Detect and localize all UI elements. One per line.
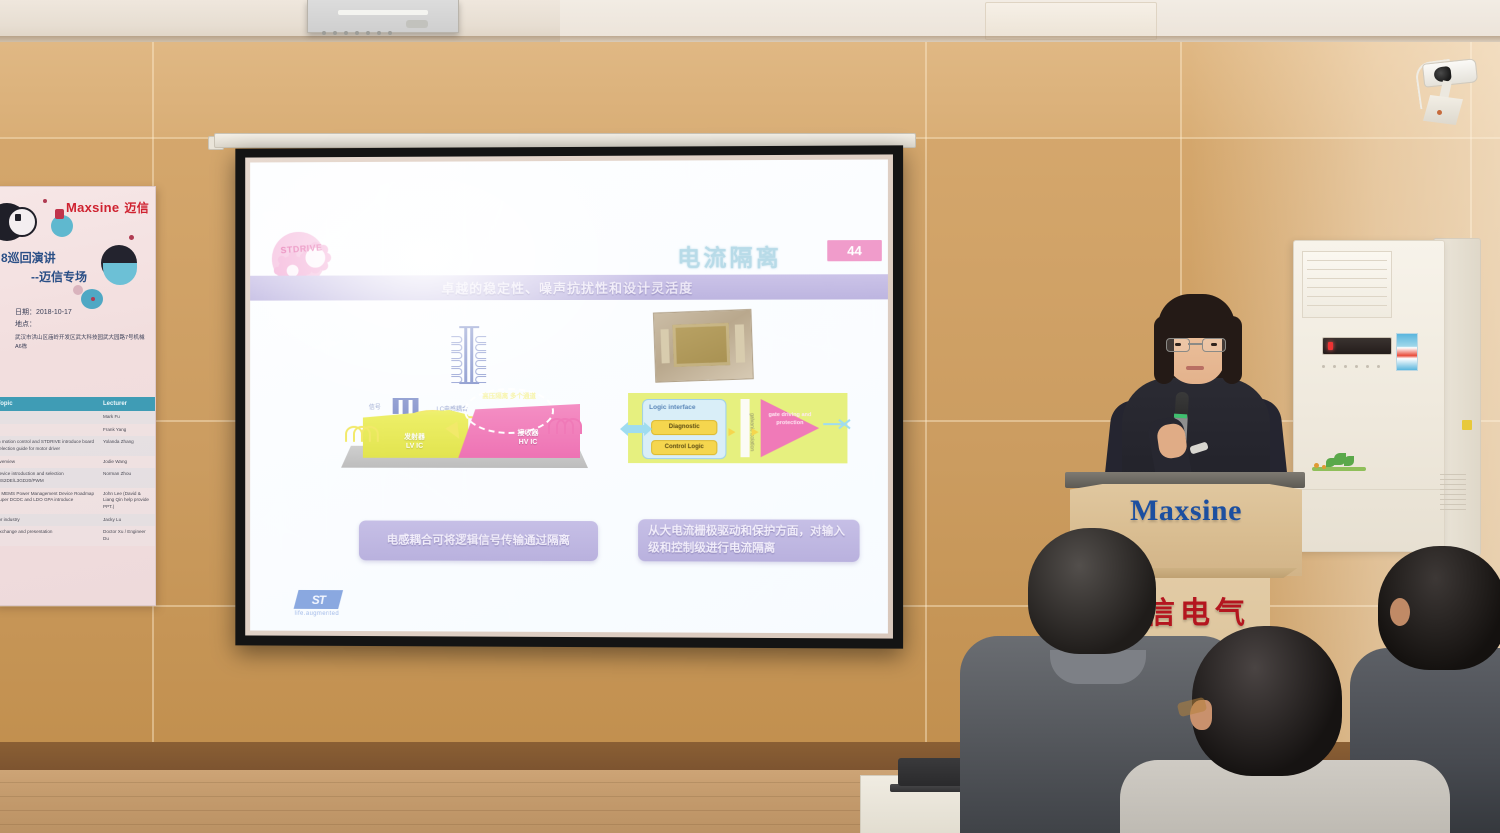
die-photo-image — [653, 309, 754, 383]
column-header-lecturer: Lecturer — [99, 397, 155, 411]
bond-wires-left — [345, 426, 379, 442]
caption-box-right: 从大电流栅极驱动和保护方面，对输入级和控制级进行电流隔离 — [638, 519, 860, 562]
signal-label: 信号 — [369, 402, 381, 411]
column-header-topic: Topic — [0, 397, 99, 411]
poster-title: 8巡回演讲 --迈信专场 — [1, 249, 141, 287]
io-arrow-icon — [628, 425, 644, 433]
table-row: exchange and presentation Doctor Xu / En… — [0, 526, 155, 545]
table-header-row: Topic Lecturer — [0, 397, 155, 411]
ac-power-led-icon — [1328, 342, 1333, 350]
audience-member-1-head — [1028, 528, 1156, 654]
projector-lens — [406, 20, 428, 28]
st-tagline: life.augmented — [295, 611, 340, 617]
diagnostic-pill: Diagnostic — [651, 420, 717, 435]
ceiling-projector — [307, 0, 459, 33]
security-camera — [1415, 55, 1487, 133]
table-row: Mark Fu — [0, 411, 155, 424]
caption-right-text: 从大电流栅极驱动和保护方面，对输入级和控制级进行电流隔离 — [648, 524, 849, 558]
table-row: for industry Jacky Lu — [0, 514, 155, 527]
projection-screen: STDRIVE 电流隔离 44 卓越的稳定性、噪声抗扰性和设计灵活度 — [235, 145, 903, 648]
slide-subtitle-text: 卓越的稳定性、噪声抗扰性和设计灵活度 — [441, 278, 693, 298]
slide-subtitle-bar: 卓越的稳定性、噪声抗扰性和设计灵活度 — [250, 274, 888, 300]
camera-mount-bracket — [1423, 95, 1463, 125]
st-logo-mark: ST — [294, 590, 343, 609]
glasses-icon — [1166, 338, 1226, 350]
poster-schedule-table: Topic Lecturer Mark Fu Frank Yang in mot… — [0, 397, 155, 546]
st-logo: ST life.augmented — [294, 590, 359, 620]
inductive-coupling-diagram: 信号 LC电感耦合 发射器 LV IC — [341, 326, 590, 506]
audience-member-1-collar — [1050, 650, 1146, 684]
table-row: Frank Yang — [0, 424, 155, 437]
caption-box-left: 电感耦合可将逻辑信号传输通过隔离 — [359, 520, 598, 561]
podium-logo-en: Maxsine — [1070, 494, 1302, 528]
ac-air-grille — [1302, 251, 1392, 318]
audience-member-2-head — [1192, 626, 1342, 776]
poster-brand: Maxsine迈信 — [66, 199, 149, 216]
air-conditioner — [1293, 240, 1445, 552]
logic-interface-box: Logic interface Diagnostic Control Logic — [642, 399, 726, 459]
ac-button-row[interactable] — [1322, 355, 1390, 365]
transformer-symbol-icon — [445, 326, 491, 384]
table-row: device introduction and selection LIS2DE… — [0, 468, 155, 487]
gate-driver-label: gate driving and protection — [767, 411, 813, 428]
table-row: in motion control and STDRIVE introduce … — [0, 436, 155, 455]
gate-output-fork — [837, 413, 849, 435]
presenter-mouth — [1186, 366, 1204, 370]
ac-energy-label — [1396, 333, 1418, 371]
wall-tile-seam — [925, 42, 927, 742]
poster-venue: 地点：武汉市洪山区庙岭开发区武大科技园武大园路7号机械A6栋 — [15, 319, 145, 351]
slide-page-number: 44 — [827, 240, 882, 261]
table-row: overview Jodie Wang — [0, 456, 155, 469]
ac-warning-tag — [1462, 420, 1472, 430]
event-poster: Maxsine迈信 8巡回演讲 --迈信专场 日期：2018-10-17 地点：… — [0, 186, 156, 606]
audience-member-3-ear — [1390, 598, 1410, 626]
logic-interface-label: Logic interface — [649, 404, 695, 411]
poster-date: 日期：2018-10-17 — [15, 307, 145, 319]
die-inner-area — [672, 323, 730, 367]
lv-ic-label: 发射器 LV IC — [377, 434, 453, 452]
ac-panel-seam — [1294, 489, 1444, 490]
ceiling-vent-panel — [985, 2, 1157, 40]
ac-lower-vent — [1440, 470, 1466, 522]
poster-meta: 日期：2018-10-17 地点：武汉市洪山区庙岭开发区武大科技园武大园路7号机… — [15, 307, 145, 351]
conference-room-scene: STDRIVE 电流隔离 44 卓越的稳定性、噪声抗扰性和设计灵活度 — [0, 0, 1500, 833]
gate-driver-diagram: Logic interface Diagnostic Control Logic… — [628, 311, 849, 502]
ac-display-panel[interactable] — [1322, 337, 1392, 355]
st-logo-text: ST — [312, 592, 325, 606]
gate-driver-block: Logic interface Diagnostic Control Logic… — [628, 393, 847, 463]
presentation-slide: STDRIVE 电流隔离 44 卓越的稳定性、噪声抗扰性和设计灵活度 — [250, 159, 888, 633]
ac-leaf-decal — [1312, 453, 1366, 473]
projector-vent-dots — [322, 22, 402, 27]
projector-light-strip — [338, 10, 428, 15]
screen-mat-border: STDRIVE 电流隔离 44 卓越的稳定性、噪声抗扰性和设计灵活度 — [245, 154, 893, 638]
camera-screw — [1437, 110, 1442, 115]
isolation-note: 高压隔离 多个通道 — [476, 392, 542, 402]
caption-left-text: 电感耦合可将逻辑信号传输通过隔离 — [387, 532, 570, 549]
control-logic-pill: Control Logic — [651, 440, 717, 455]
slide-title: 电流隔离 — [677, 238, 782, 272]
gate-driver-amp-icon — [761, 399, 819, 457]
table-row: & MEMS Power Management Device Roadmap s… — [0, 488, 155, 514]
